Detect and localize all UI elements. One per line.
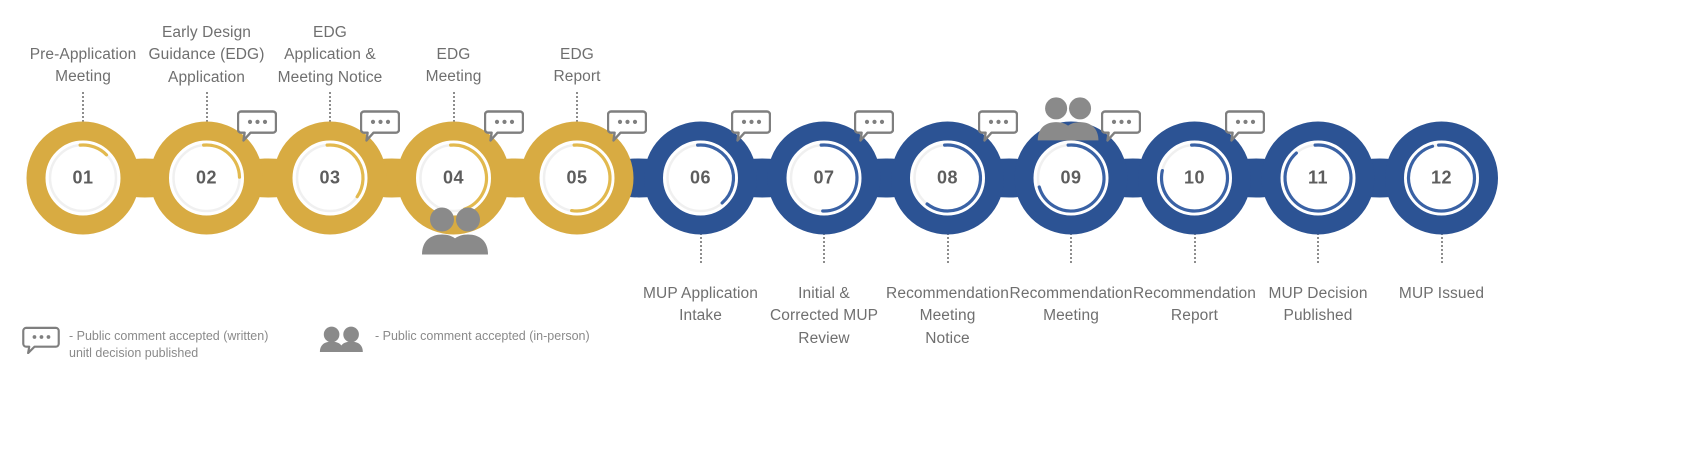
step-label-05: EDG Report [553, 44, 600, 89]
legend-text: - Public comment accepted (written) unit… [69, 326, 268, 362]
people-icon [318, 326, 366, 357]
speech-bubble-icon [854, 110, 894, 149]
step-label-11: MUP Decision Published [1268, 283, 1367, 328]
step-label-12: MUP Issued [1399, 283, 1484, 305]
process-diagram: 01Pre-Application Meeting02Early Design … [0, 0, 1694, 466]
step-node-01[interactable] [36, 131, 130, 225]
step-label-03: EDG Application & Meeting Notice [278, 22, 383, 89]
speech-bubble-icon [484, 110, 524, 149]
people-icon [1036, 96, 1102, 145]
speech-bubble-icon [731, 110, 771, 149]
step-label-07: Initial & Corrected MUP Review [770, 283, 878, 350]
step-label-09: Recommendation Meeting [1010, 283, 1133, 328]
step-label-01: Pre-Application Meeting [30, 44, 137, 89]
speech-bubble-icon [1225, 110, 1265, 149]
step-node-11[interactable] [1271, 131, 1365, 225]
step-label-04: EDG Meeting [426, 44, 482, 89]
step-label-02: Early Design Guidance (EDG) Application [149, 22, 265, 89]
legend-item-2: - Public comment accepted (in-person) [318, 326, 590, 357]
legend-text: - Public comment accepted (in-person) [375, 326, 590, 345]
speech-bubble-icon [1101, 110, 1141, 149]
speech-bubble-icon [22, 326, 60, 359]
speech-bubble-icon [978, 110, 1018, 149]
step-label-08: Recommendation Meeting Notice [886, 283, 1009, 350]
step-label-10: Recommendation Report [1133, 283, 1256, 328]
step-node-12[interactable] [1395, 131, 1489, 225]
people-icon [420, 207, 492, 260]
step-label-06: MUP Application Intake [643, 283, 758, 328]
speech-bubble-icon [360, 110, 400, 149]
legend-item-1: - Public comment accepted (written) unit… [22, 326, 268, 362]
speech-bubble-icon [237, 110, 277, 149]
speech-bubble-icon [607, 110, 647, 149]
